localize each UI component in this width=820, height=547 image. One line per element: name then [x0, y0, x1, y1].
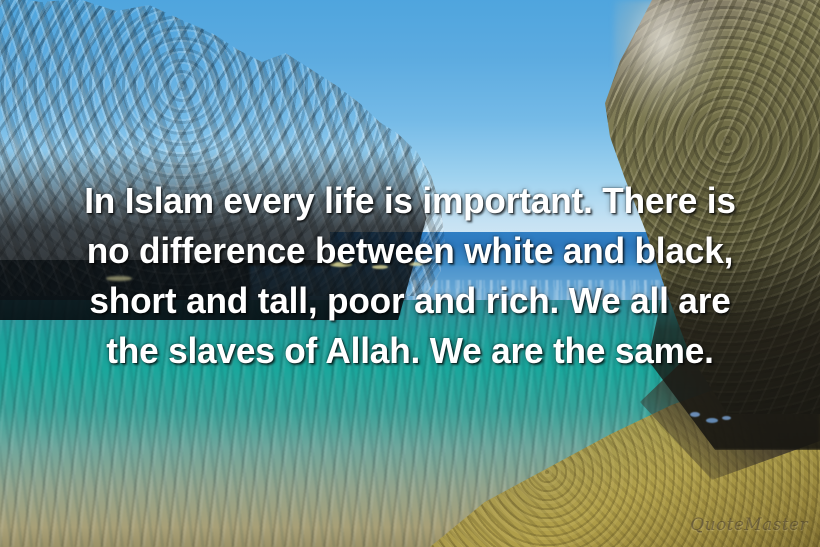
quote-image: In Islam every life is important. There …: [0, 0, 820, 547]
quote-text-block: In Islam every life is important. There …: [0, 176, 820, 376]
quote-line-4: the slaves of Allah. We are the same.: [28, 326, 792, 376]
watermark-signature: QuoteMaster: [690, 515, 808, 535]
quote-line-3: short and tall, poor and rich. We all ar…: [28, 276, 792, 326]
right-cliff-highlight: [614, 0, 724, 120]
quote-line-2: no difference between white and black,: [28, 226, 792, 276]
quote-line-1: In Islam every life is important. There …: [28, 176, 792, 226]
